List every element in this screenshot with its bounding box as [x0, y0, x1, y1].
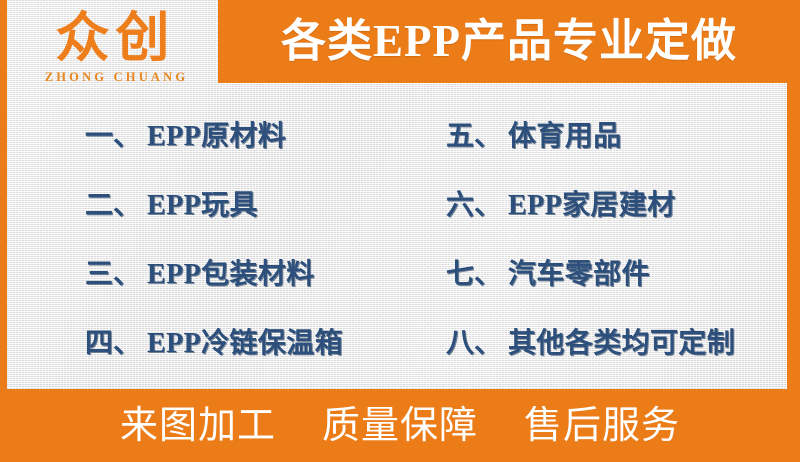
- list-item: 六、 EPP家居建材: [446, 191, 787, 220]
- list-item-label: EPP家居建材: [508, 191, 676, 220]
- list-item: 八、 其他各类均可定制: [446, 329, 787, 358]
- list-item: 五、 体育用品: [446, 122, 787, 151]
- logo-chinese-mark: 众创: [56, 11, 176, 65]
- feature-column-left: 一、 EPP原材料 二、 EPP玩具 三、 EPP包装材料 四、 EPP冷链保温…: [7, 96, 426, 388]
- header-banner: 各类EPP产品专业定做: [218, 0, 800, 83]
- right-accent-stripe: [787, 82, 800, 389]
- list-item-index: 八、: [446, 329, 502, 358]
- list-item-label: 汽车零部件: [508, 260, 650, 289]
- footer-item-after-sales-service: 售后服务: [524, 407, 680, 445]
- list-item-index: 三、: [85, 260, 141, 289]
- list-item-label: EPP包装材料: [147, 260, 315, 289]
- list-item-index: 五、: [446, 122, 502, 151]
- list-item-index: 四、: [85, 329, 141, 358]
- list-item-label: EPP原材料: [147, 122, 286, 151]
- list-item: 七、 汽车零部件: [446, 260, 787, 289]
- list-item-index: 六、: [446, 191, 502, 220]
- header-title: 各类EPP产品专业定做: [281, 19, 737, 64]
- list-item-index: 一、: [85, 122, 141, 151]
- list-item-label: EPP玩具: [147, 191, 258, 220]
- promo-poster: 众创 ZHONG CHUANG 各类EPP产品专业定做 一、 EPP原材料 二、…: [0, 0, 800, 462]
- list-item: 四、 EPP冷链保温箱: [85, 329, 426, 358]
- logo-pinyin-text: ZHONG CHUANG: [45, 70, 189, 85]
- list-item-index: 二、: [85, 191, 141, 220]
- feature-list: 一、 EPP原材料 二、 EPP玩具 三、 EPP包装材料 四、 EPP冷链保温…: [7, 96, 787, 388]
- feature-column-right: 五、 体育用品 六、 EPP家居建材 七、 汽车零部件 八、 其他各类均可定制: [426, 96, 787, 388]
- list-item: 三、 EPP包装材料: [85, 260, 426, 289]
- list-item: 二、 EPP玩具: [85, 191, 426, 220]
- list-item-index: 七、: [446, 260, 502, 289]
- footer-banner: 来图加工 质量保障 售后服务: [0, 389, 800, 462]
- list-item: 一、 EPP原材料: [85, 122, 426, 151]
- footer-item-custom-processing: 来图加工: [120, 407, 276, 445]
- brand-logo: 众创 ZHONG CHUANG: [7, 0, 218, 95]
- list-item-label: EPP冷链保温箱: [147, 329, 343, 358]
- list-item-label: 体育用品: [508, 122, 622, 151]
- footer-item-quality-guarantee: 质量保障: [322, 407, 478, 445]
- list-item-label: 其他各类均可定制: [508, 329, 735, 358]
